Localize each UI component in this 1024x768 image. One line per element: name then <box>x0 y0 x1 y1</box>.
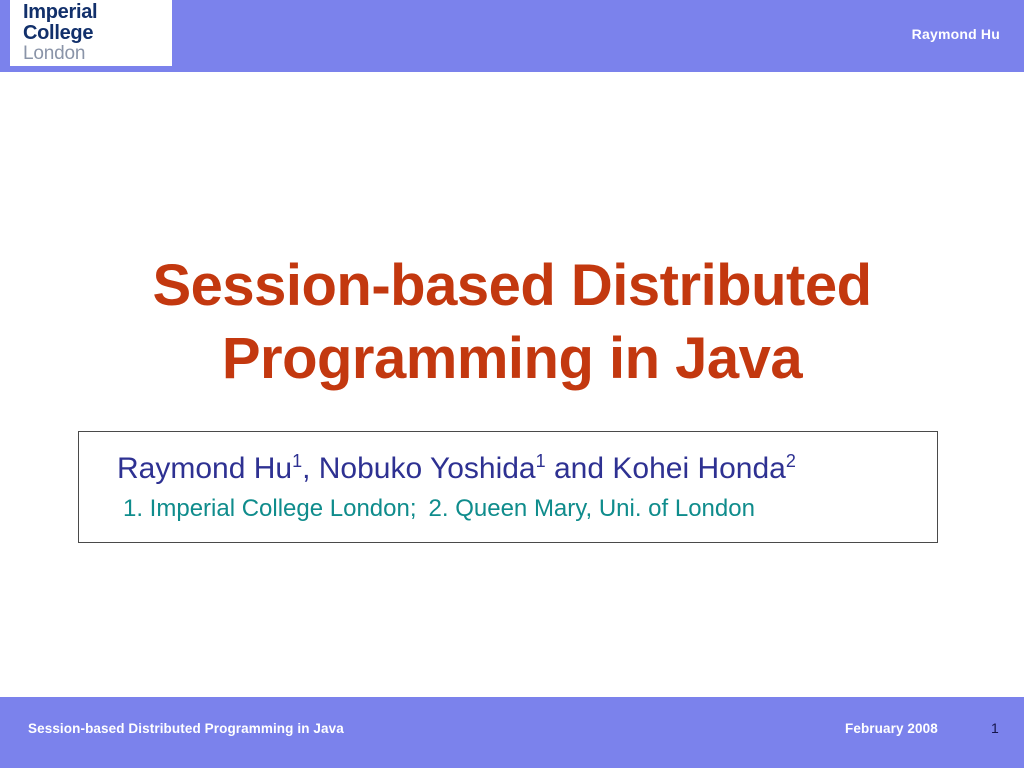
header-author-name: Raymond Hu <box>912 26 1000 42</box>
authors-box: Raymond Hu1, Nobuko Yoshida1 and Kohei H… <box>78 431 938 543</box>
author-separator-1: , <box>302 452 319 485</box>
author-name-1: Raymond Hu <box>117 452 292 485</box>
authors-line: Raymond Hu1, Nobuko Yoshida1 and Kohei H… <box>79 450 937 488</box>
author-name-3: Kohei Honda <box>612 452 785 485</box>
affiliation-2: 2. Queen Mary, Uni. of London <box>429 495 755 522</box>
page-title: Session-based Distributed Programming in… <box>0 250 1024 395</box>
author-sup-1: 1 <box>292 451 302 471</box>
logo-line-imperial-college: Imperial College <box>23 2 172 44</box>
footer-presentation-title: Session-based Distributed Programming in… <box>28 721 344 736</box>
logo-line-london: London <box>23 44 172 64</box>
affiliation-1: 1. Imperial College London; <box>123 495 417 522</box>
author-sup-2: 1 <box>536 451 546 471</box>
imperial-college-logo: Imperial College London <box>10 0 172 66</box>
page-title-line-2: Programming in Java <box>0 323 1024 396</box>
author-name-2: Nobuko Yoshida <box>319 452 536 485</box>
author-sup-3: 2 <box>786 451 796 471</box>
slide-content-area: Session-based Distributed Programming in… <box>0 72 1024 697</box>
affiliations-line: 1. Imperial College London;2. Queen Mary… <box>79 493 937 524</box>
slide-footer-band: Session-based Distributed Programming in… <box>0 697 1024 768</box>
page-title-line-1: Session-based Distributed <box>0 250 1024 323</box>
slide-header-band: Imperial College London Raymond Hu <box>0 0 1024 72</box>
author-separator-2: and <box>546 452 613 485</box>
footer-date: February 2008 <box>845 721 938 736</box>
footer-page-number: 1 <box>991 720 999 736</box>
